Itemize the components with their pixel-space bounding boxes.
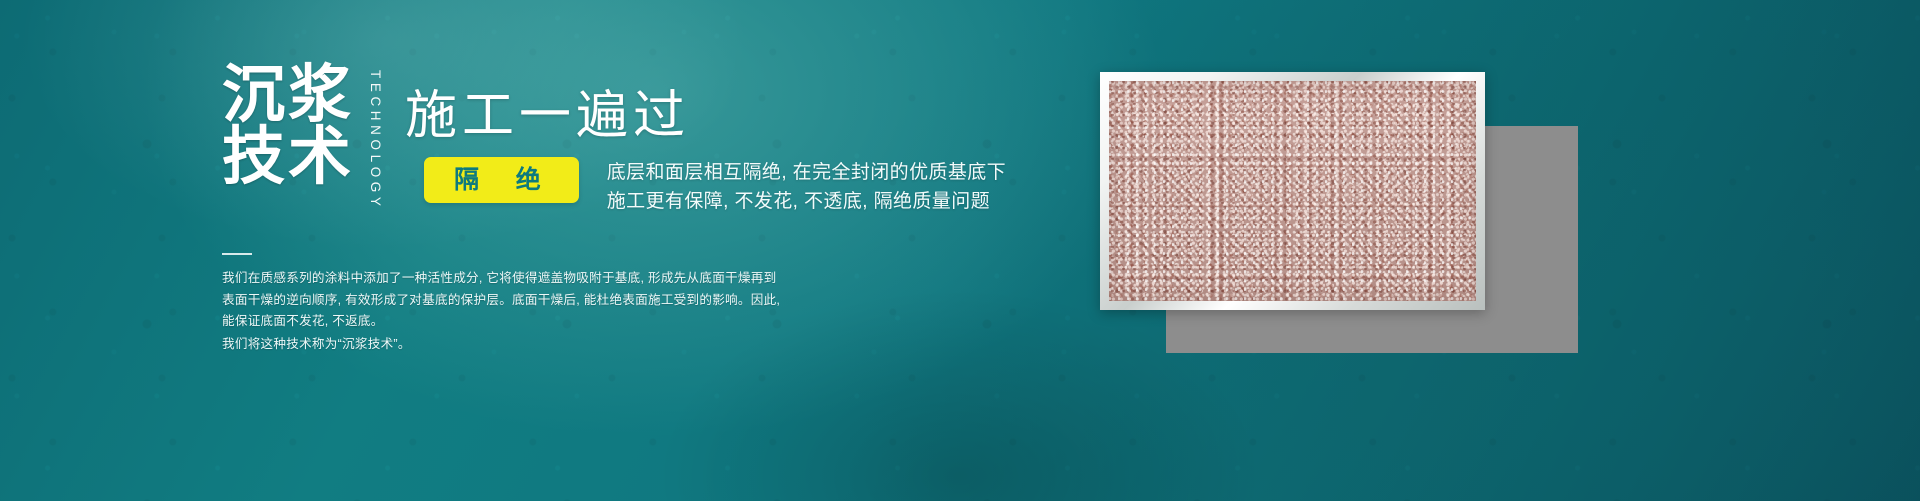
body-paragraph-line-1: 我们在质感系列的涂料中添加了一种活性成分, 它将使得遮盖物吸附于基底, 形成先从… — [222, 268, 692, 290]
banner-content: 沉浆 技术 TECHNOLOGY 施工一遍过 隔 绝 底层和面层相互隔绝, 在完… — [0, 0, 1920, 501]
section-divider — [222, 253, 252, 255]
brand-logo-line-2: 技术 — [222, 126, 354, 188]
brand-logo-vertical-english: TECHNOLOGY — [368, 70, 383, 188]
body-paragraph-closing: 我们将这种技术称为“沉浆技术”。 — [222, 333, 411, 352]
brand-logo-line-1: 沉浆 — [222, 64, 354, 126]
stone-texture-photo — [1109, 81, 1476, 301]
brand-logo-chinese: 沉浆 技术 — [222, 64, 354, 187]
body-paragraph-line-3: 能保证底面不发花, 不返底。 — [222, 311, 692, 333]
body-paragraph: 我们在质感系列的涂料中添加了一种活性成分, 它将使得遮盖物吸附于基底, 形成先从… — [222, 268, 692, 333]
subheading-row: 隔 绝 底层和面层相互隔绝, 在完全封闭的优质基底下 施工更有保障, 不发花, … — [424, 157, 1006, 217]
body-paragraph-line-2: 表面干燥的逆向顺序, 有效形成了对基底的保护层。底面干燥后, 能杜绝表面施工受到… — [222, 290, 692, 312]
promo-banner: 沉浆 技术 TECHNOLOGY 施工一遍过 隔 绝 底层和面层相互隔绝, 在完… — [0, 0, 1920, 501]
headline: 施工一遍过 — [405, 73, 690, 148]
media-group — [1100, 60, 1760, 360]
brand-logo: 沉浆 技术 TECHNOLOGY — [222, 64, 383, 188]
sub-description-line-1: 底层和面层相互隔绝, 在完全封闭的优质基底下 — [607, 159, 1006, 188]
sub-description: 底层和面层相互隔绝, 在完全封闭的优质基底下 施工更有保障, 不发花, 不透底,… — [607, 159, 1006, 217]
sub-description-line-2: 施工更有保障, 不发花, 不透底, 隔绝质量问题 — [607, 188, 1006, 217]
feature-badge: 隔 绝 — [424, 157, 579, 203]
photo-frame — [1100, 72, 1485, 310]
